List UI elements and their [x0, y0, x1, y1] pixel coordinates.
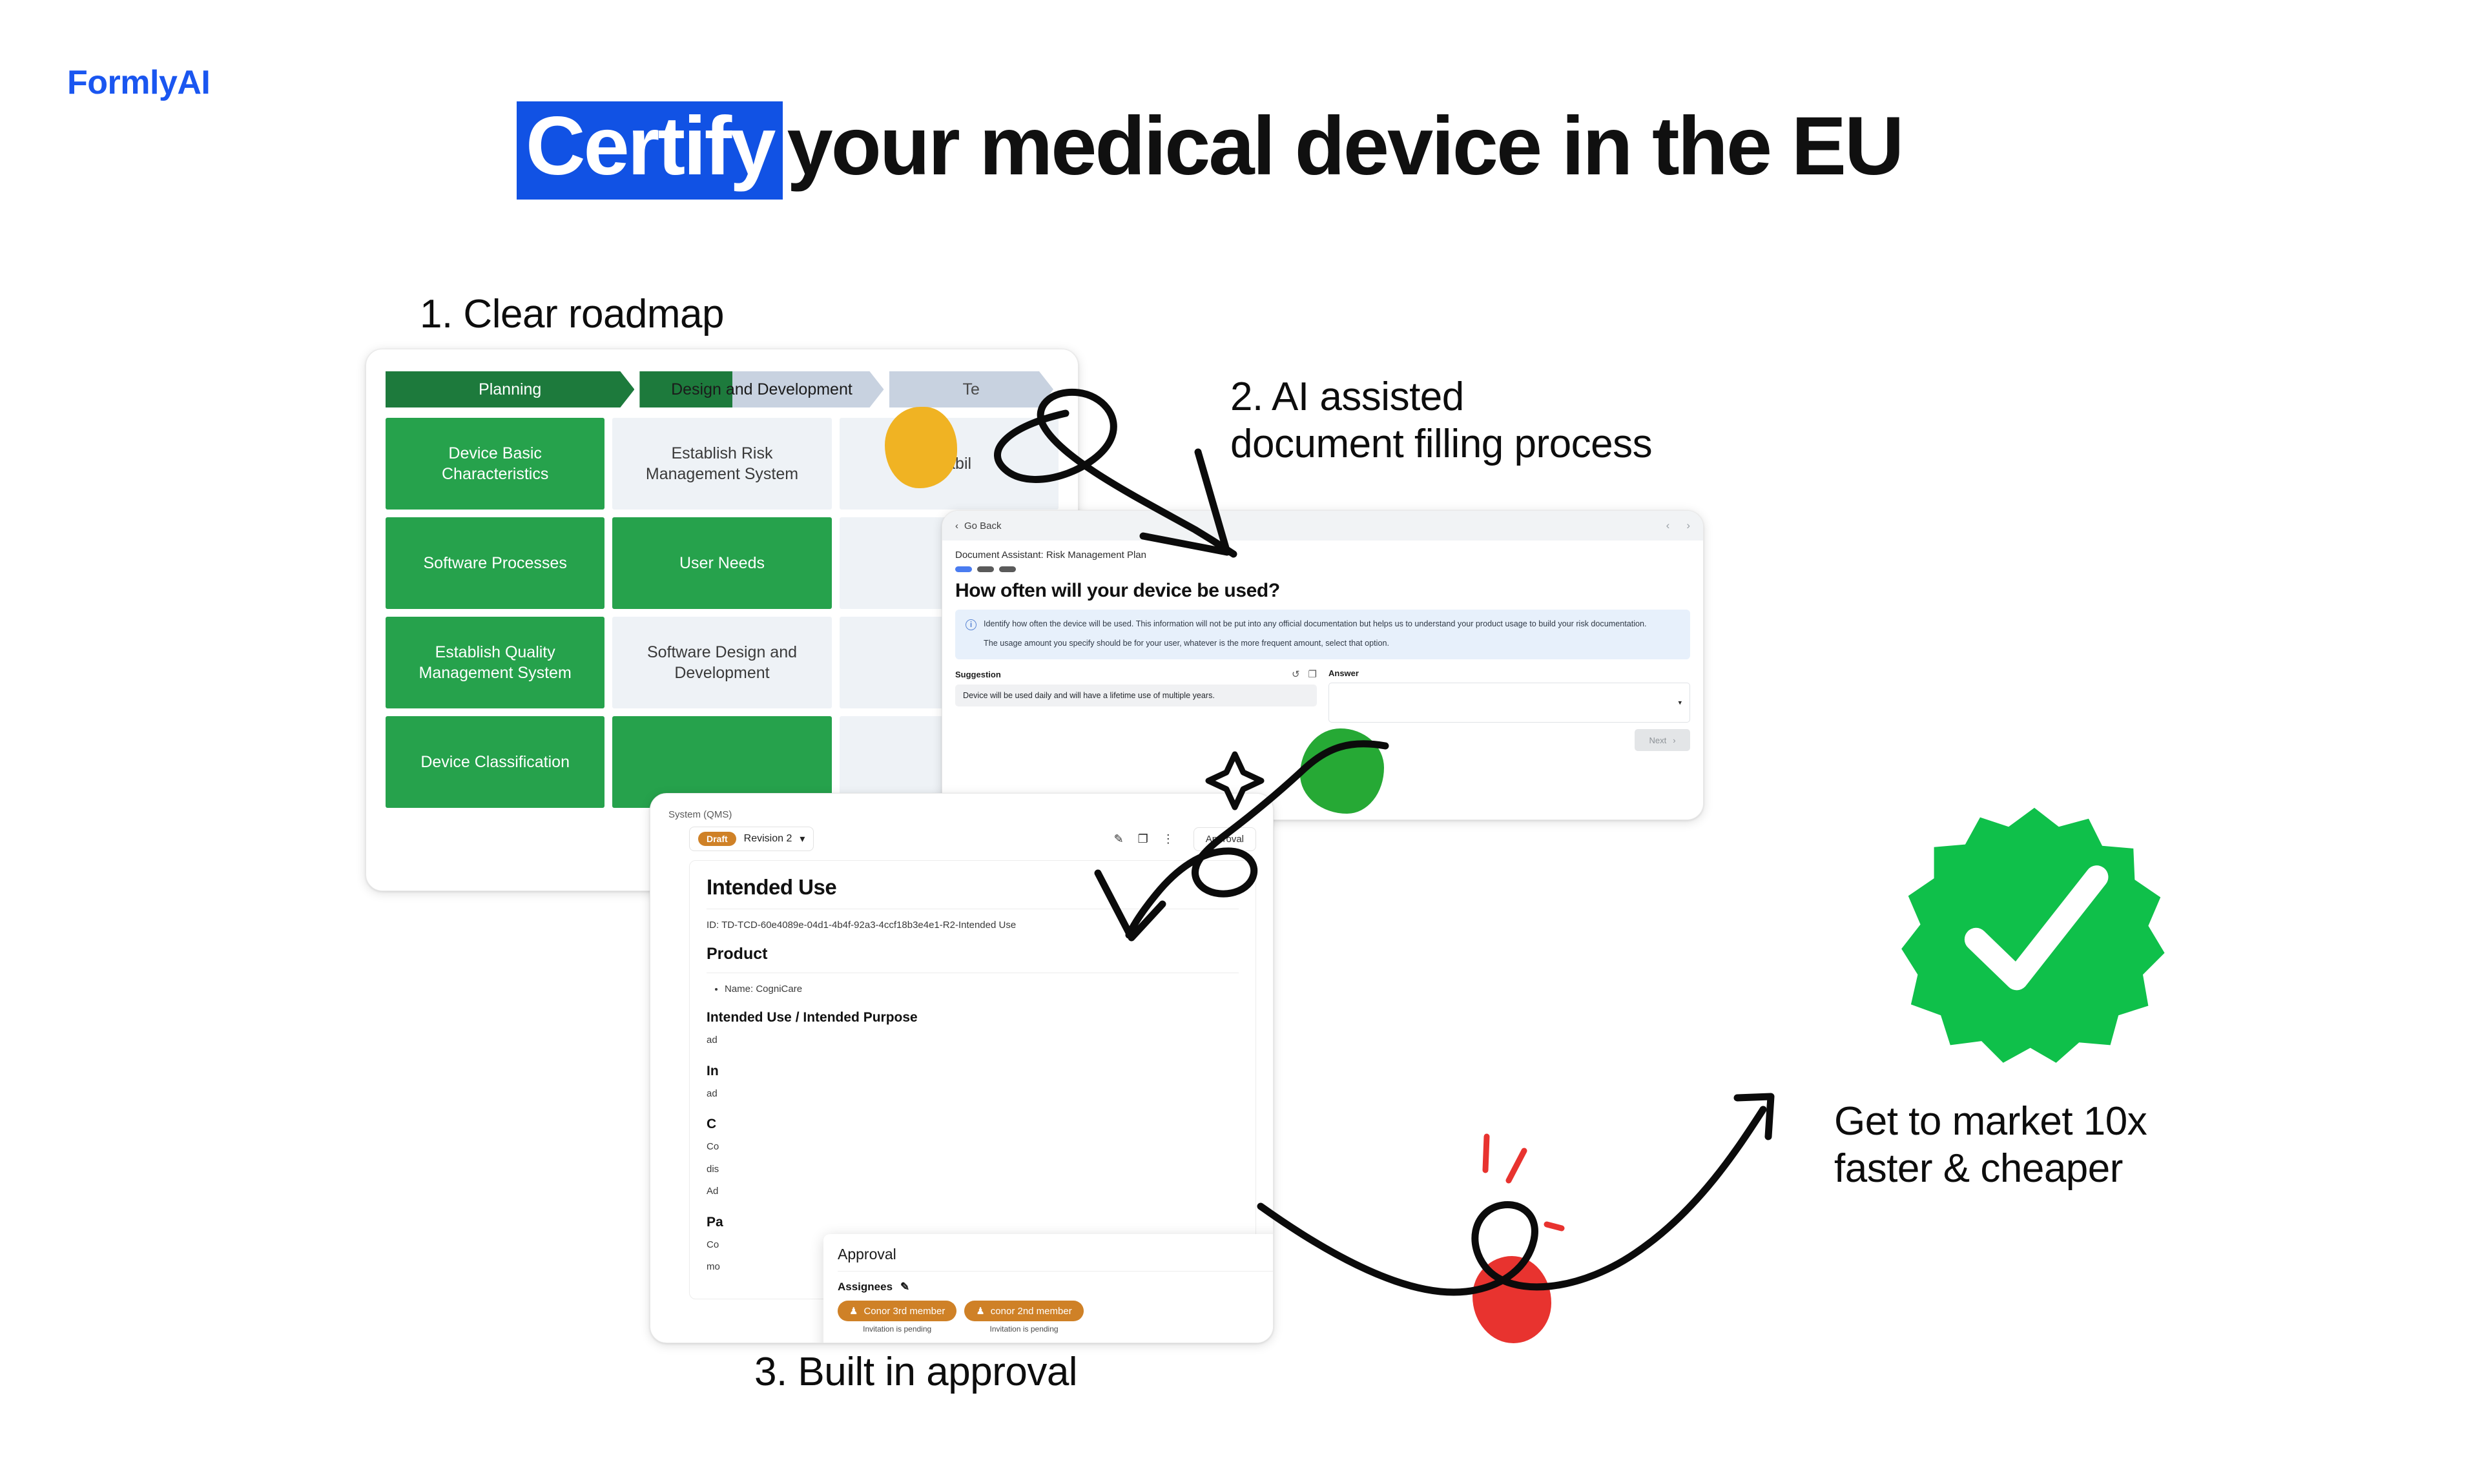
roadmap-tile[interactable]: Software Processes: [386, 517, 604, 609]
approval-modal: Approval × Assignees ✎ ♟ Conor 3rd membe…: [823, 1234, 1274, 1343]
brand-logo[interactable]: FormlyAI: [67, 63, 210, 102]
step-pip-2[interactable]: [977, 566, 994, 572]
person-icon: ♟: [849, 1305, 858, 1317]
info-paragraph-2: The usage amount you specify should be f…: [984, 637, 1647, 650]
roadmap-stage-planning[interactable]: Planning: [386, 371, 634, 407]
assignee-status: Invitation is pending: [863, 1324, 931, 1334]
roadmap-tile[interactable]: Device Basic Characteristics: [386, 418, 604, 510]
document-panel: Intended Use ID: TD-TCD-60e4089e-04d1-4b…: [689, 860, 1256, 1299]
assistant-info-box: i Identify how often the device will be …: [955, 610, 1690, 659]
info-icon: i: [966, 619, 976, 630]
caption-ai-assisted: 2. AI assisted document filling process: [1230, 373, 1652, 468]
tile-label: User Needs: [679, 553, 765, 574]
suggestion-label: Suggestion: [955, 670, 1001, 679]
assistant-nav-arrows: ‹ ›: [1666, 519, 1690, 532]
tile-label: Establish Quality Management System: [398, 642, 592, 684]
chevron-down-icon: ▾: [800, 832, 805, 845]
breadcrumb: System (QMS): [650, 794, 1273, 820]
roadmap-stage-bar: Planning Design and Development Te: [386, 371, 1059, 407]
headline-highlight: Certify: [517, 101, 783, 200]
doodle-arrowhead-bottom: [1737, 1097, 1771, 1137]
chevron-left-icon: ‹: [955, 520, 958, 531]
tile-label: Software Processes: [424, 553, 567, 574]
approval-card: System (QMS) Draft Revision 2 ▾ ✎ ❐ ⋮ Ap…: [650, 793, 1274, 1343]
go-back-label: Go Back: [964, 520, 1002, 531]
person-icon: ♟: [976, 1305, 984, 1317]
edit-icon[interactable]: ✎: [900, 1281, 909, 1293]
decorative-blob-yellow: [885, 407, 957, 488]
answer-select[interactable]: ▾: [1328, 683, 1690, 723]
caption-built-in-approval: 3. Built in approval: [754, 1348, 1077, 1396]
edit-icon[interactable]: ✎: [1114, 832, 1124, 846]
modal-title: Approval: [838, 1246, 896, 1263]
assignee-name: Conor 3rd member: [863, 1306, 945, 1317]
page-title: Certifyyour medical device in the EU: [517, 97, 1902, 200]
chevron-right-icon: ›: [1673, 736, 1675, 745]
refresh-icon[interactable]: ↺: [1292, 668, 1300, 680]
obscured-text-3: Co: [707, 1140, 1239, 1155]
assistant-step-indicator: [955, 566, 1690, 572]
roadmap-tile[interactable]: Device Classification: [386, 716, 604, 808]
approval-button[interactable]: Approval: [1193, 827, 1256, 851]
product-heading: Product: [707, 945, 1239, 964]
assignee-status: Invitation is pending: [989, 1324, 1058, 1334]
document-title: Intended Use: [707, 875, 1239, 900]
assistant-topbar: ‹ Go Back ‹ ›: [942, 511, 1703, 541]
copy-icon[interactable]: ❐: [1138, 832, 1148, 846]
obscured-text-2: ad: [707, 1087, 1239, 1102]
doodle-spark-lines: [1485, 1137, 1562, 1228]
obscured-heading-3: Pa: [707, 1215, 1239, 1230]
tile-label: Software Design and Development: [625, 642, 818, 684]
assignee-chip[interactable]: ♟ Conor 3rd member: [838, 1301, 956, 1321]
stage-label: Design and Development: [671, 380, 852, 399]
product-name: Name: CogniCare: [725, 984, 1239, 994]
revision-selector[interactable]: Draft Revision 2 ▾: [689, 827, 814, 851]
divider: [707, 973, 1239, 973]
roadmap-stage-test[interactable]: Te: [889, 371, 1054, 407]
revision-label: Revision 2: [744, 833, 792, 845]
verified-check-badge-icon: [1899, 801, 2170, 1075]
caption-get-to-market: Get to market 10x faster & cheaper: [1834, 1098, 2147, 1192]
assignee-chip[interactable]: ♟ conor 2nd member: [964, 1301, 1083, 1321]
assignees-label: Assignees: [838, 1281, 893, 1293]
decorative-blob-red: [1472, 1256, 1551, 1343]
roadmap-tile[interactable]: Establish Risk Management System: [612, 418, 831, 510]
stage-label: Te: [963, 380, 980, 399]
tile-label: Establish Risk Management System: [625, 443, 818, 485]
obscured-heading-2: C: [707, 1117, 1239, 1132]
assistant-document-title: Document Assistant: Risk Management Plan: [955, 550, 1690, 561]
obscured-heading-1: In: [707, 1064, 1239, 1079]
step-pip-3[interactable]: [999, 566, 1016, 572]
stage-label: Planning: [479, 380, 541, 399]
tile-label: Device Basic Characteristics: [398, 443, 592, 485]
next-button[interactable]: Next ›: [1635, 729, 1690, 751]
prev-page-icon[interactable]: ‹: [1666, 519, 1670, 532]
assistant-question: How often will your device be used?: [955, 580, 1690, 602]
decorative-blob-green: [1300, 728, 1384, 814]
slide-canvas: FormlyAI Certifyyour medical device in t…: [0, 0, 2480, 1484]
headline-rest: your medical device in the EU: [787, 100, 1902, 192]
more-options-icon[interactable]: ⋮: [1162, 832, 1174, 846]
caption-clear-roadmap: 1. Clear roadmap: [420, 291, 724, 338]
info-paragraph-1: Identify how often the device will be us…: [984, 618, 1647, 630]
approval-toolbar: Draft Revision 2 ▾ ✎ ❐ ⋮ Approval: [650, 820, 1273, 851]
intended-use-heading: Intended Use / Intended Purpose: [707, 1010, 1239, 1025]
roadmap-tile[interactable]: Software Design and Development: [612, 617, 831, 708]
roadmap-stage-design-and-development[interactable]: Design and Development: [639, 371, 883, 407]
divider: [707, 909, 1239, 909]
roadmap-tile[interactable]: User Needs: [612, 517, 831, 609]
status-badge: Draft: [698, 832, 736, 846]
go-back-button[interactable]: ‹ Go Back: [955, 520, 1002, 531]
copy-icon[interactable]: ❐: [1308, 668, 1317, 680]
assignee-name: conor 2nd member: [991, 1306, 1072, 1317]
answer-label: Answer: [1328, 668, 1690, 678]
next-page-icon[interactable]: ›: [1686, 519, 1690, 532]
assignee-list: ♟ Conor 3rd member Invitation is pending…: [838, 1301, 1274, 1334]
roadmap-tile[interactable]: Establish Quality Management System: [386, 617, 604, 708]
next-label: Next: [1649, 736, 1666, 745]
tile-label: Device Classification: [420, 752, 570, 773]
obscured-text-1: ad: [707, 1033, 1239, 1048]
obscured-text-5: Ad: [707, 1184, 1239, 1199]
chevron-down-icon: ▾: [1678, 699, 1682, 707]
divider: [838, 1271, 1274, 1272]
suggestion-text: Device will be used daily and will have …: [955, 685, 1317, 706]
document-id: ID: TD-TCD-60e4089e-04d1-4b4f-92a3-4ccf1…: [707, 920, 1239, 931]
obscured-text-4: dis: [707, 1162, 1239, 1177]
step-pip-1[interactable]: [955, 566, 972, 572]
